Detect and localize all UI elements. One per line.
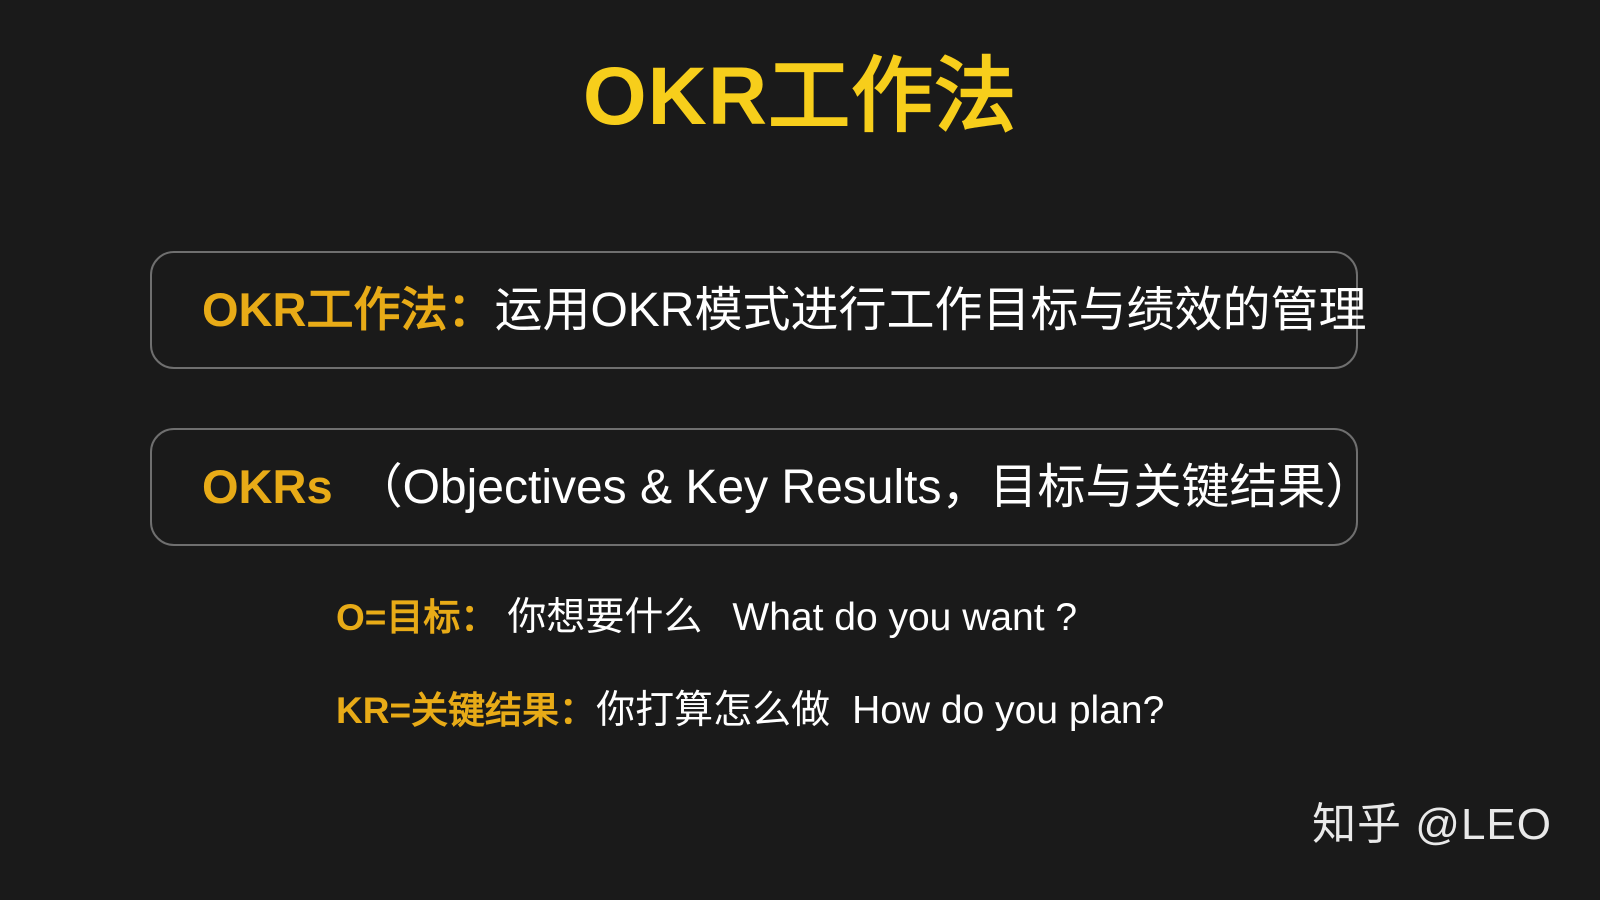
key-result-chinese-text: 你打算怎么做 — [596, 689, 830, 732]
key-result-english-text: How do you plan? — [852, 689, 1164, 732]
definition-box-text: 运用OKR模式进行工作目标与绩效的管理 — [494, 284, 1366, 337]
watermark: 知乎 @LEO — [1312, 788, 1552, 852]
objective-english-text: What do you want ? — [732, 596, 1077, 639]
acronym-box-line: OKRs（Objectives & Key Results，目标与关键结果） — [202, 463, 1373, 512]
objective-label: O=目标： — [336, 597, 497, 638]
acronym-box-text: （Objectives & Key Results，目标与关键结果） — [355, 461, 1374, 514]
key-result-definition-line: KR=关键结果：你打算怎么做How do you plan? — [336, 691, 1164, 730]
definition-box: OKR工作法：运用OKR模式进行工作目标与绩效的管理 — [150, 251, 1358, 369]
objective-definition-line: O=目标：你想要什么What do you want ? — [336, 598, 1077, 637]
definition-box-label: OKR工作法： — [202, 283, 494, 336]
slide-canvas: OKR工作法 OKR工作法：运用OKR模式进行工作目标与绩效的管理 OKRs（O… — [0, 0, 1600, 900]
objective-chinese-text: 你想要什么 — [507, 596, 702, 639]
acronym-box: OKRs（Objectives & Key Results，目标与关键结果） — [150, 428, 1358, 546]
page-title: OKR工作法 — [0, 52, 1600, 142]
definition-box-line: OKR工作法：运用OKR模式进行工作目标与绩效的管理 — [202, 286, 1366, 335]
acronym-box-label: OKRs — [202, 460, 333, 513]
key-result-label: KR=关键结果： — [336, 690, 596, 731]
